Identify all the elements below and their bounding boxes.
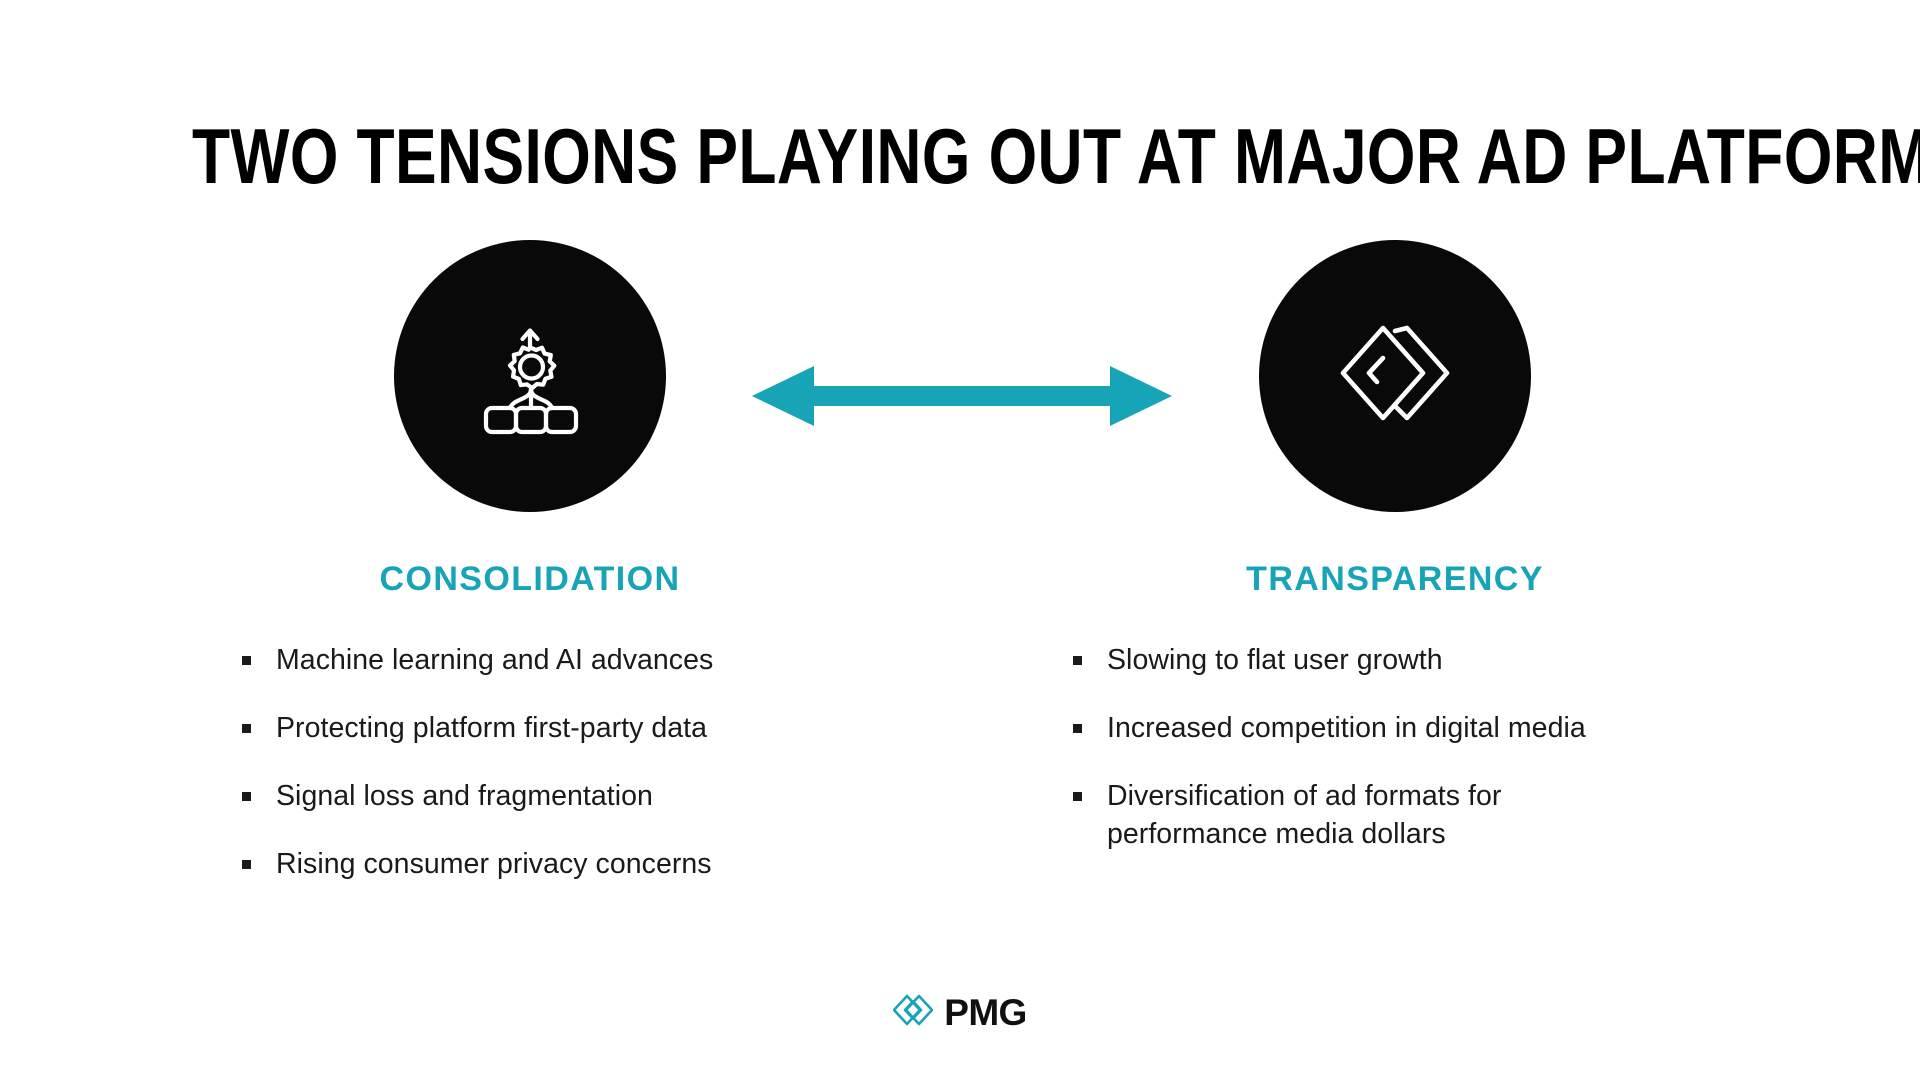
presentation-slide: TWO TENSIONS PLAYING OUT AT MAJOR AD PLA…: [0, 0, 1920, 1080]
consolidation-bullet-list: Machine learning and AI advances Protect…: [170, 641, 890, 883]
list-item-label: Signal loss and fragmentation: [276, 777, 756, 815]
list-item-label: Protecting platform first-party data: [276, 709, 756, 747]
pmg-logo: PMG: [0, 993, 1920, 1032]
column-heading-consolidation: CONSOLIDATION: [170, 560, 890, 599]
transparency-icon-circle: [1259, 240, 1531, 512]
list-item: Slowing to flat user growth: [1073, 641, 1755, 679]
bullet-square-icon: [1073, 656, 1082, 665]
bullet-square-icon: [1073, 792, 1082, 801]
column-consolidation: CONSOLIDATION Machine learning and AI ad…: [170, 240, 890, 913]
list-item: Increased competition in digital media: [1073, 709, 1755, 747]
bullet-square-icon: [1073, 724, 1082, 733]
list-item: Protecting platform first-party data: [242, 709, 890, 747]
list-item-label: Slowing to flat user growth: [1107, 641, 1587, 679]
list-item-label: Machine learning and AI advances: [276, 641, 756, 679]
bullet-square-icon: [242, 656, 251, 665]
consolidation-gear-hierarchy-icon: [470, 316, 590, 436]
consolidation-icon-circle: [394, 240, 666, 512]
list-item-label: Increased competition in digital media: [1107, 709, 1587, 747]
transparency-bullet-list: Slowing to flat user growth Increased co…: [1035, 641, 1755, 853]
bullet-square-icon: [242, 792, 251, 801]
column-heading-transparency: TRANSPARENCY: [1035, 560, 1755, 599]
list-item-label: Diversification of ad formats for perfor…: [1107, 777, 1587, 853]
bullet-square-icon: [242, 860, 251, 869]
double-headed-arrow-icon: [752, 360, 1172, 432]
pmg-diamond-logo-icon: [893, 993, 933, 1032]
list-item: Diversification of ad formats for perfor…: [1073, 777, 1755, 853]
transparency-overlapping-diamonds-icon: [1335, 316, 1455, 436]
bullet-square-icon: [242, 724, 251, 733]
list-item: Rising consumer privacy concerns: [242, 845, 890, 883]
list-item: Machine learning and AI advances: [242, 641, 890, 679]
tensions-columns: CONSOLIDATION Machine learning and AI ad…: [0, 0, 1920, 1080]
pmg-wordmark: PMG: [944, 994, 1026, 1031]
list-item: Signal loss and fragmentation: [242, 777, 890, 815]
column-transparency: TRANSPARENCY Slowing to flat user growth…: [1035, 240, 1755, 883]
list-item-label: Rising consumer privacy concerns: [276, 845, 756, 883]
